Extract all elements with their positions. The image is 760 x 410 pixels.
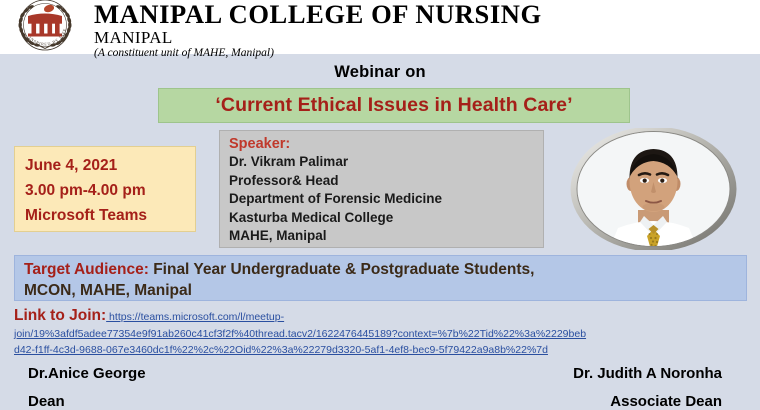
header-text-block: MANIPAL COLLEGE OF NURSING MANIPAL (A co… [92, 0, 542, 59]
join-link-url-line2[interactable]: join/19%3afdf5adee77354e9f91ab260c41cf3f… [14, 327, 754, 343]
target-audience-line2: MCON, MAHE, Manipal [24, 281, 746, 302]
college-name: MANIPAL COLLEGE OF NURSING [94, 1, 542, 28]
target-audience-text: Final Year Undergraduate & Postgraduate … [149, 261, 535, 278]
speaker-designation: Professor& Head [229, 172, 543, 191]
speaker-university: MAHE, Manipal [229, 227, 543, 246]
logo-container: INSPIRED BY LIFE [0, 0, 92, 54]
event-platform: Microsoft Teams [25, 203, 195, 228]
poster-header: INSPIRED BY LIFE MANIPAL COLLEGE OF NURS… [0, 0, 760, 54]
manipal-crest-icon: INSPIRED BY LIFE [8, 0, 82, 54]
event-date: June 4, 2021 [25, 153, 195, 178]
poster-footer: Dr.Anice George Dean Dr. Judith A Noronh… [0, 362, 760, 409]
schedule-box: June 4, 2021 3.00 pm-4.00 pm Microsoft T… [14, 146, 196, 232]
event-title-box: ‘Current Ethical Issues in Health Care’ [158, 88, 630, 123]
associate-dean-title: Associate Dean [610, 393, 722, 410]
college-subtitle: (A constituent unit of MAHE, Manipal) [94, 48, 542, 60]
dean-name: Dr.Anice George [28, 365, 146, 382]
target-audience-line1: Target Audience: Final Year Undergraduat… [24, 260, 746, 281]
target-audience-label: Target Audience: [24, 261, 149, 278]
speaker-department: Department of Forensic Medicine [229, 190, 543, 209]
webinar-poster: INSPIRED BY LIFE MANIPAL COLLEGE OF NURS… [0, 0, 760, 409]
speaker-photo [556, 128, 751, 250]
join-link-url-line1[interactable]: https://teams.microsoft.com/l/meetup- [106, 311, 284, 323]
join-link-label: Link to Join: [14, 307, 106, 324]
speaker-portrait-image [556, 128, 751, 250]
associate-dean-name: Dr. Judith A Noronha [573, 365, 722, 382]
speaker-box: Speaker: Dr. Vikram Palimar Professor& H… [219, 130, 544, 248]
join-link-block: Link to Join: https://teams.microsoft.co… [14, 307, 754, 359]
event-time: 3.00 pm-4.00 pm [25, 178, 195, 203]
speaker-name: Dr. Vikram Palimar [229, 153, 543, 172]
college-city: MANIPAL [94, 29, 542, 46]
speaker-label: Speaker: [229, 135, 543, 153]
speaker-institution: Kasturba Medical College [229, 209, 543, 228]
webinar-label: Webinar on [0, 63, 760, 82]
target-audience-box: Target Audience: Final Year Undergraduat… [14, 255, 747, 301]
event-title: ‘Current Ethical Issues in Health Care’ [215, 94, 572, 117]
dean-title: Dean [28, 393, 65, 410]
join-link-url-line3[interactable]: d42-f1ff-4c3d-9688-067e3460dc1f%22%2c%22… [14, 343, 754, 359]
